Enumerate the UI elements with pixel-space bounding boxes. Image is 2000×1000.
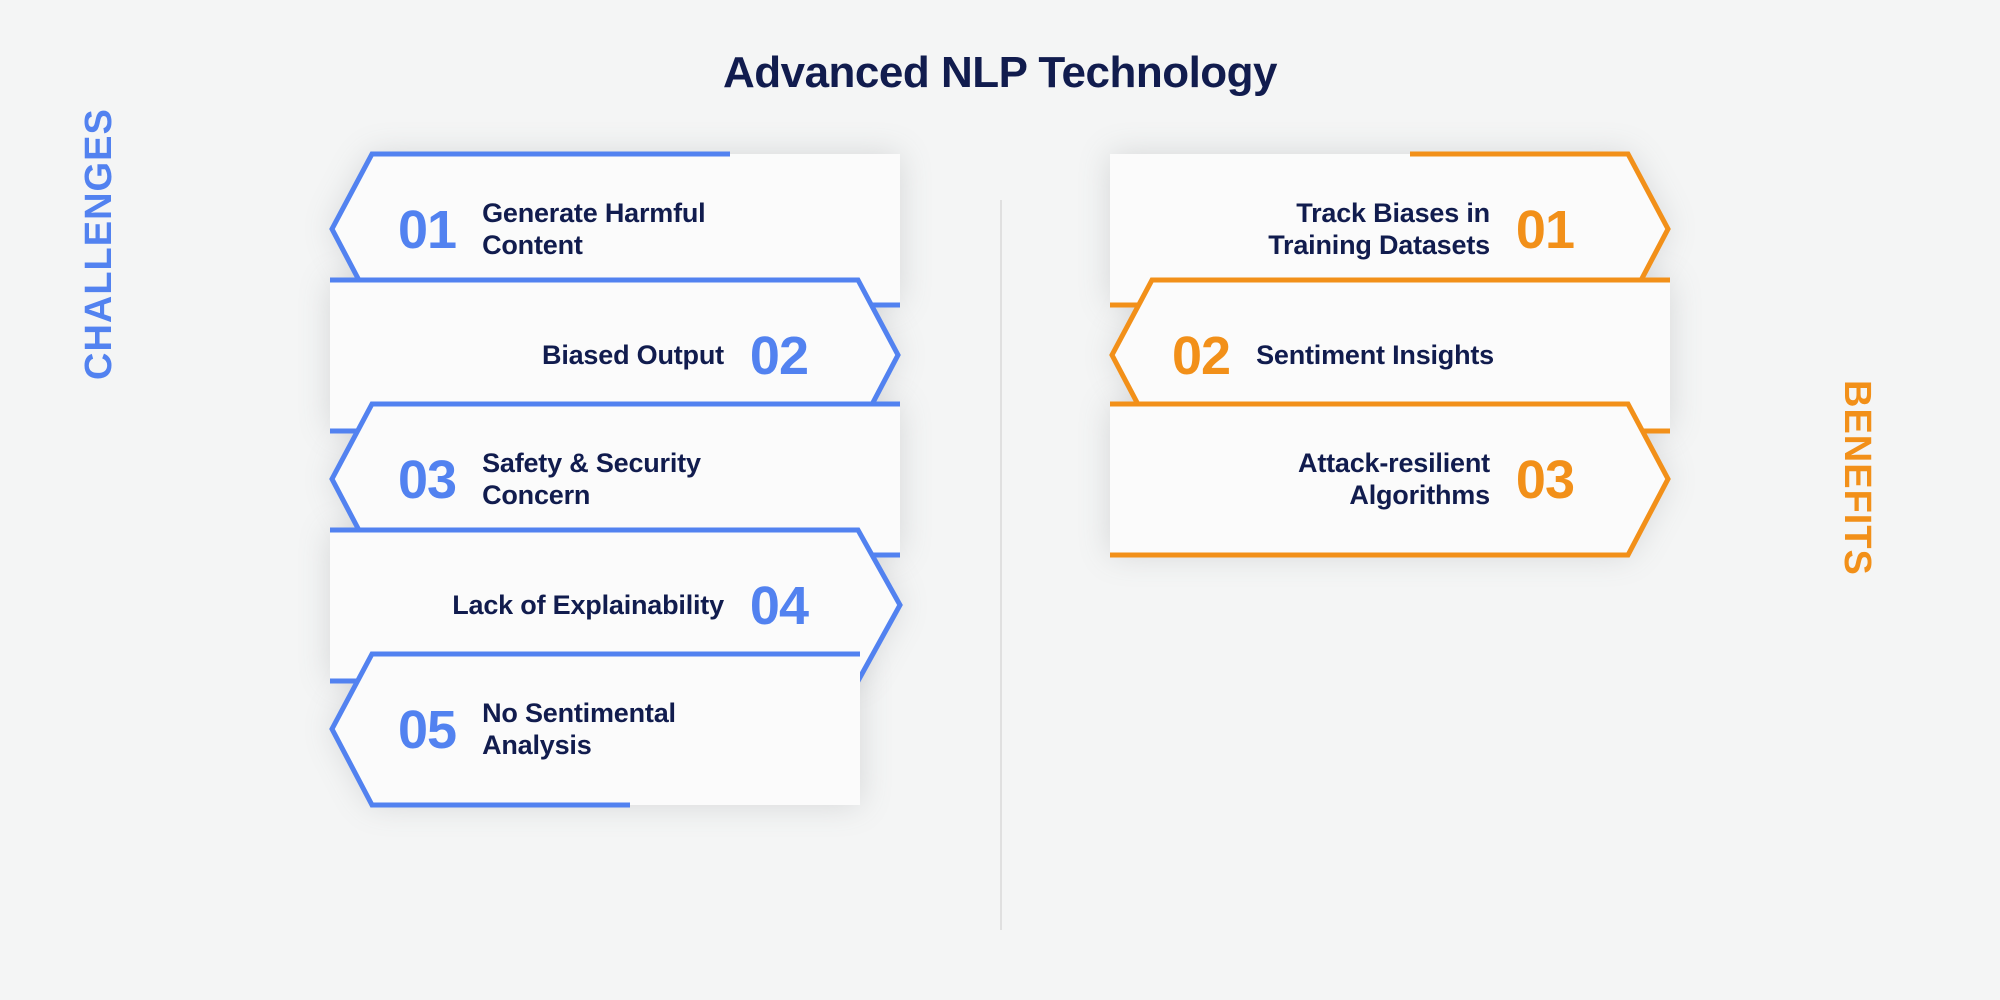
page-title: Advanced NLP Technology	[0, 48, 2000, 98]
benefit-number-03: 03	[1516, 453, 1574, 507]
challenge-row-content-05: 05 No Sentimental Analysis	[330, 652, 900, 807]
challenge-number-05: 05	[398, 703, 456, 757]
challenge-number-02: 02	[750, 329, 808, 383]
challenge-number-01: 01	[398, 203, 456, 257]
challenge-label-05: No Sentimental Analysis	[482, 698, 732, 762]
challenge-label-04: Lack of Explainability	[452, 590, 724, 622]
benefit-number-01: 01	[1516, 203, 1574, 257]
challenge-label-03: Safety & Security Concern	[482, 448, 732, 512]
side-label-benefits: BENEFITS	[1835, 380, 1878, 576]
benefit-item-03[interactable]: Attack-resilient Algorithms 03	[1110, 402, 1670, 557]
benefit-label-03: Attack-resilient Algorithms	[1210, 448, 1490, 512]
center-divider	[1000, 200, 1002, 930]
side-label-challenges: CHALLENGES	[78, 108, 121, 380]
benefit-label-02: Sentiment Insights	[1256, 340, 1494, 372]
challenge-item-05[interactable]: 05 No Sentimental Analysis	[330, 652, 900, 807]
challenge-label-02: Biased Output	[542, 340, 724, 372]
benefit-number-02: 02	[1172, 329, 1230, 383]
challenge-number-04: 04	[750, 579, 808, 633]
benefit-row-content-03: Attack-resilient Algorithms 03	[1110, 402, 1670, 557]
challenge-number-03: 03	[398, 453, 456, 507]
benefit-label-01: Track Biases in Training Datasets	[1190, 198, 1490, 262]
challenge-label-01: Generate Harmful Content	[482, 198, 732, 262]
